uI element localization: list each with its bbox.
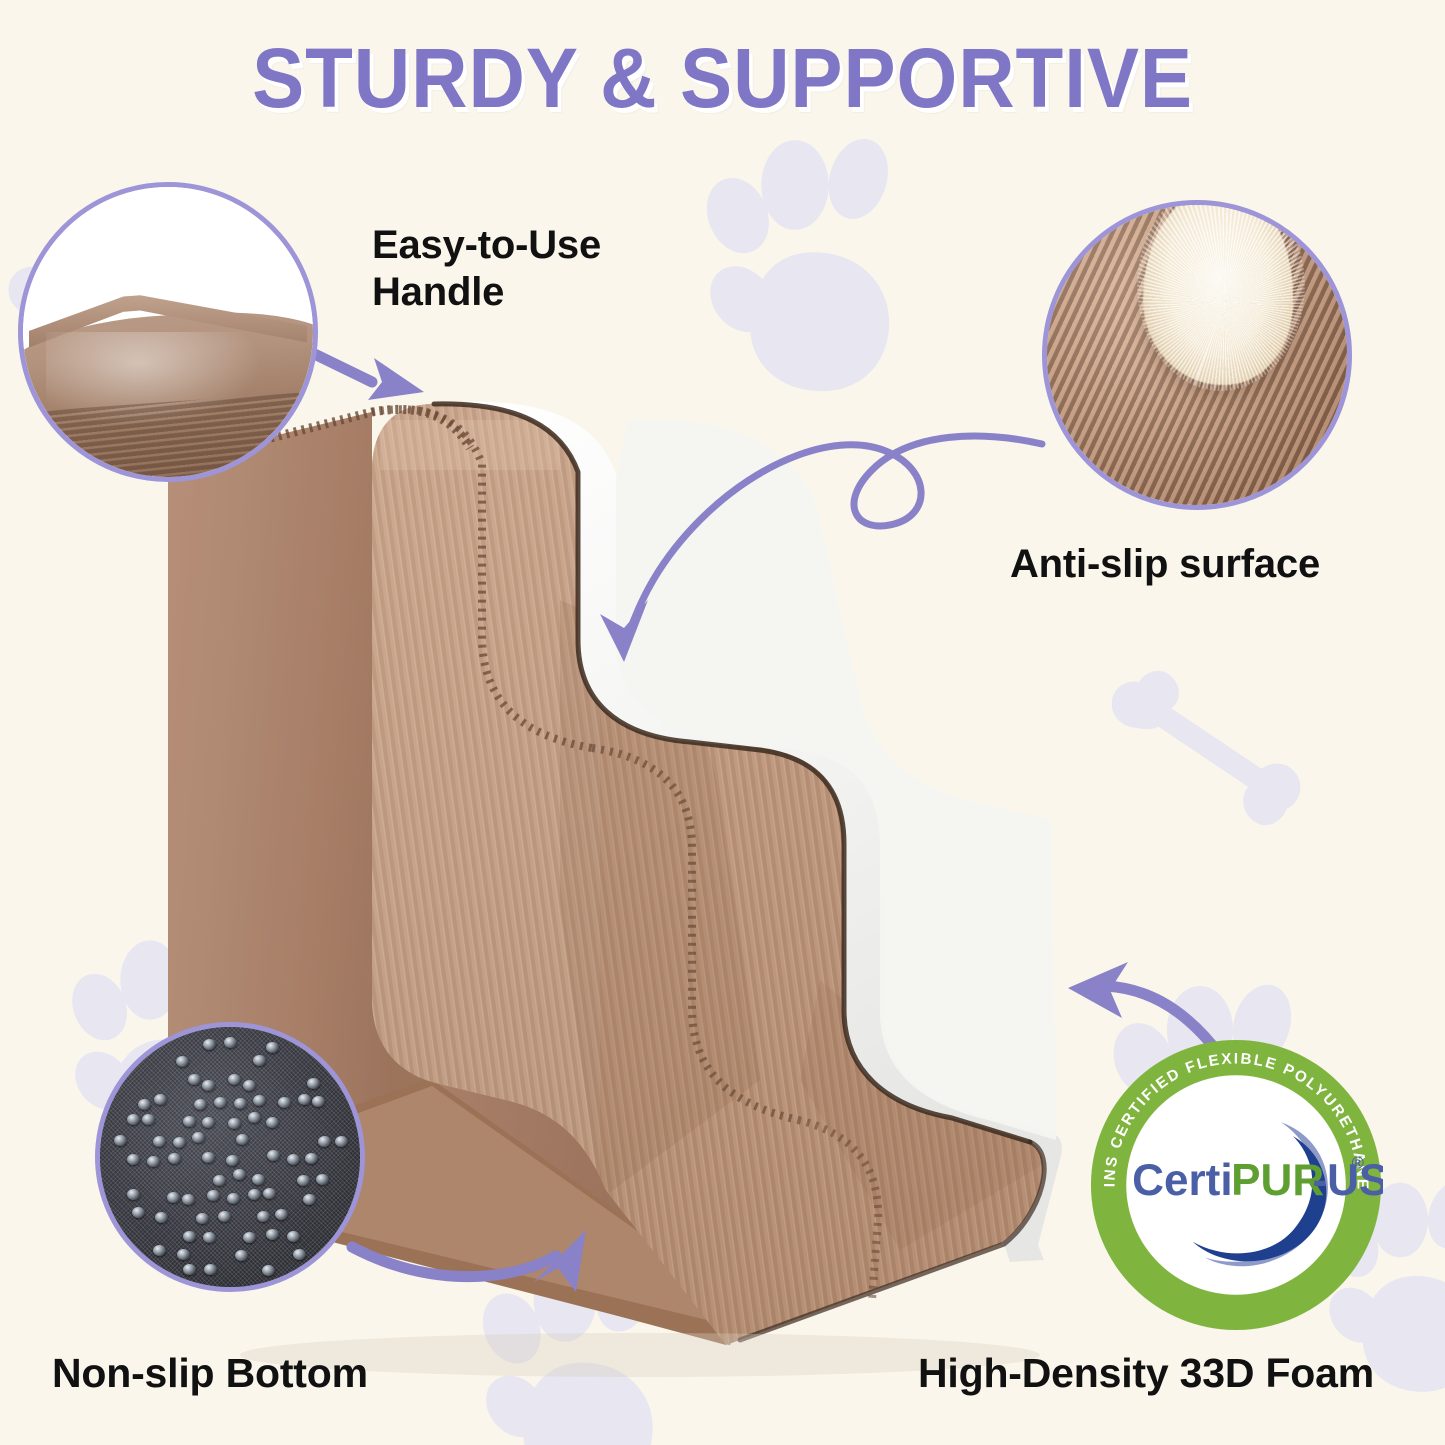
label-handle-line1: Easy-to-Use	[372, 223, 601, 267]
label-handle-line2: Handle	[372, 270, 504, 314]
label-anti-slip-surface: Anti-slip surface	[1010, 541, 1320, 588]
svg-text:Certi: Certi	[1132, 1156, 1232, 1205]
svg-text:®: ®	[1352, 1153, 1365, 1172]
non-slip-bottom-closeup-circle	[95, 1022, 365, 1292]
infographic-canvas: STURDY & SUPPORTIVE CONTAINS CERTIF	[0, 0, 1445, 1445]
grip-dots	[100, 1027, 360, 1287]
svg-text:PUR: PUR	[1231, 1156, 1324, 1205]
page-title: STURDY & SUPPORTIVE	[51, 34, 1395, 122]
certipur-us-badge: CONTAINS CERTIFIED FLEXIBLE POLYURETHANE…	[1089, 1038, 1383, 1332]
label-easy-to-use-handle: Easy-to-Use Handle	[372, 222, 601, 316]
handle-closeup-circle	[18, 182, 318, 482]
anti-slip-closeup-circle	[1042, 200, 1352, 510]
label-non-slip-bottom: Non-slip Bottom	[52, 1349, 368, 1397]
svg-text:-US: -US	[1312, 1156, 1383, 1205]
badge-center-wordmark: Certi PUR -US ®	[1132, 1153, 1383, 1204]
label-high-density-foam: High-Density 33D Foam	[918, 1349, 1374, 1397]
handle-photo	[23, 187, 313, 477]
